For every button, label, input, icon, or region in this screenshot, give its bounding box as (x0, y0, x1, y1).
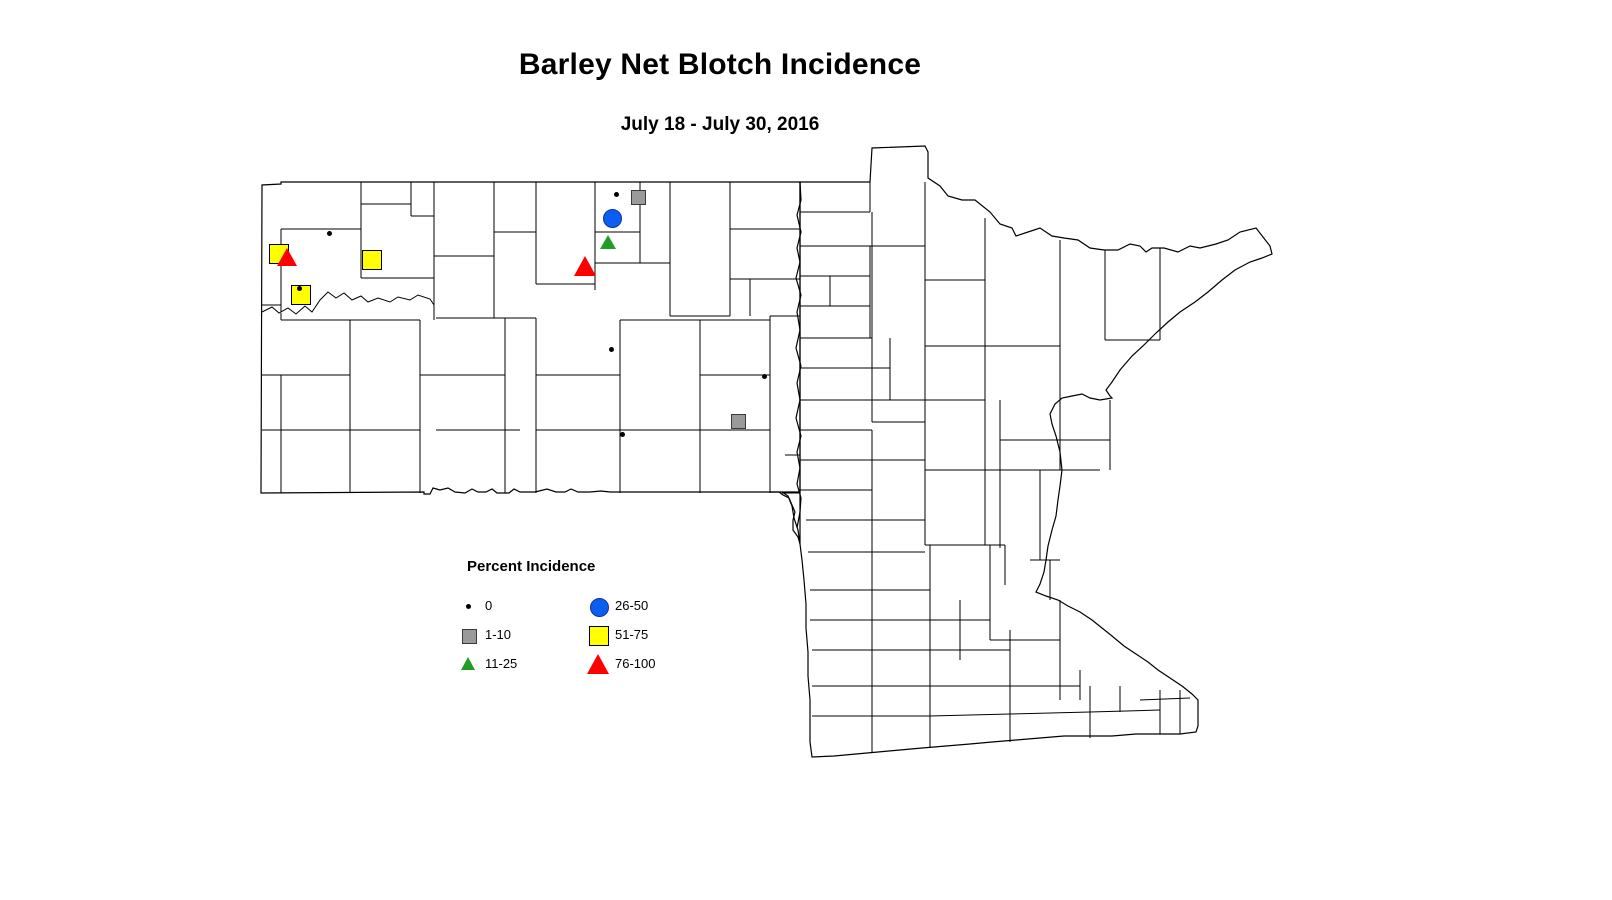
map-marker-76-100 (574, 256, 596, 276)
map-marker-1-10 (731, 414, 746, 429)
state-county-map (0, 0, 1612, 900)
legend-label: 51-75 (615, 627, 648, 642)
map-marker-11-25 (600, 235, 616, 249)
map-marker-26-50 (603, 209, 622, 228)
map-canvas (0, 0, 1612, 900)
small-black-dot-icon (455, 594, 481, 618)
north-dakota-counties (261, 182, 800, 544)
map-marker-0 (327, 231, 332, 236)
gray-square-icon (455, 623, 481, 647)
map-marker-76-100 (277, 248, 297, 266)
map-marker-0 (614, 192, 619, 197)
legend-title: Percent Incidence (467, 558, 595, 575)
map-marker-51-75 (362, 250, 382, 270)
legend: Percent Incidence 01-1011-25 26-5051-757… (455, 552, 715, 687)
legend-label: 26-50 (615, 598, 648, 613)
map-marker-0 (297, 286, 302, 291)
minnesota-counties (770, 146, 1272, 757)
legend-label: 11-25 (485, 656, 517, 671)
yellow-square-icon (585, 623, 611, 647)
map-marker-1-10 (631, 190, 646, 205)
blue-circle-icon (585, 594, 611, 618)
map-marker-0 (762, 374, 767, 379)
red-triangle-icon (585, 652, 611, 676)
legend-label: 0 (485, 598, 492, 613)
legend-label: 76-100 (615, 656, 655, 671)
legend-label: 1-10 (485, 627, 511, 642)
map-page: Barley Net Blotch Incidence July 18 - Ju… (0, 0, 1612, 900)
green-triangle-icon (455, 652, 481, 676)
map-marker-0 (620, 432, 625, 437)
map-marker-0 (609, 347, 614, 352)
